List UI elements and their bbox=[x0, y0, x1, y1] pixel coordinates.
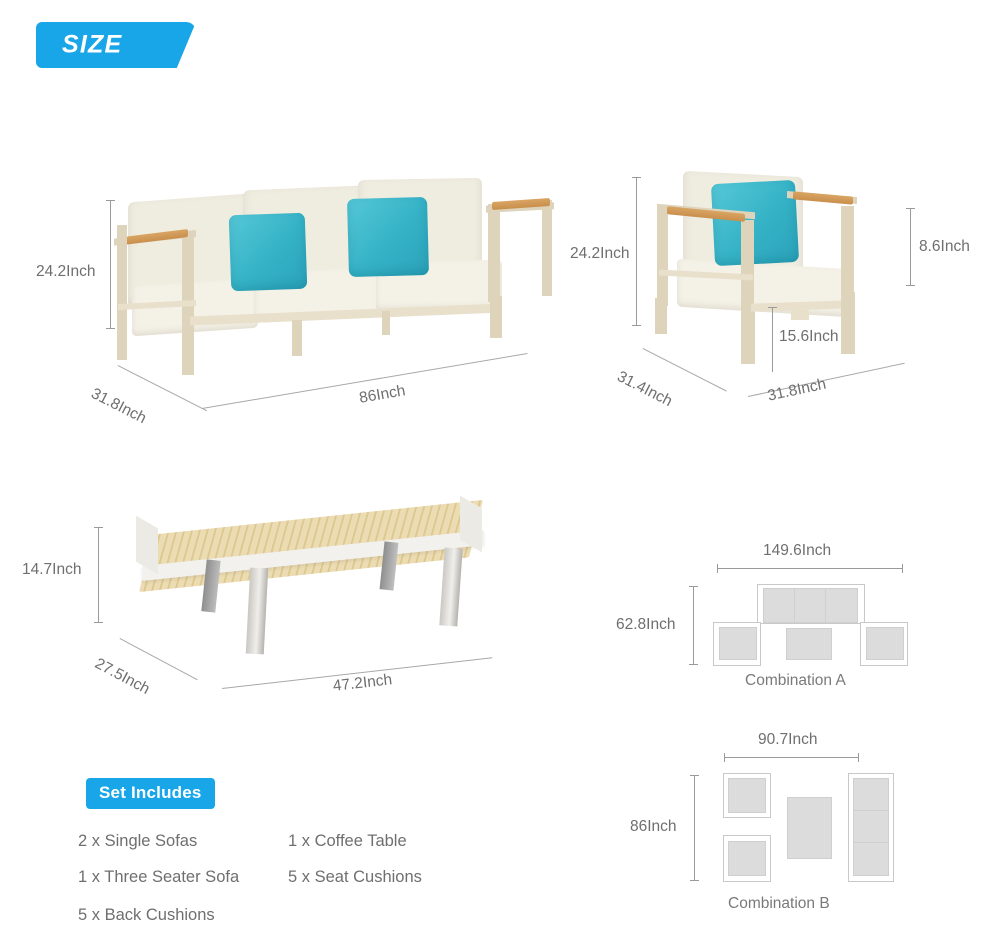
chair-throw-pillow bbox=[711, 180, 799, 266]
combination-b-depth-tick-top bbox=[690, 775, 699, 776]
three-seater-height-line bbox=[110, 200, 111, 328]
single-sofa-seat-height-label: 15.6Inch bbox=[779, 328, 838, 346]
set-includes-item-2: 1 x Three Seater Sofa bbox=[78, 868, 239, 887]
combination-b-plan-armchair-top-seat bbox=[728, 778, 766, 813]
single-sofa-figure bbox=[645, 168, 895, 368]
set-includes-item-1: 1 x Coffee Table bbox=[288, 832, 407, 851]
combination-b-block: 90.7Inch 86Inch Combination B bbox=[600, 725, 970, 925]
single-sofa-seat-tick-top bbox=[768, 307, 777, 308]
sofa-leg-mid-rear bbox=[382, 311, 390, 335]
combination-a-caption: Combination A bbox=[745, 672, 846, 690]
set-includes-item-4: 5 x Back Cushions bbox=[78, 906, 215, 925]
sofa-leg-back-left bbox=[117, 328, 127, 360]
chair-arm-post-front-right bbox=[841, 206, 854, 298]
sofa-arm-post-left bbox=[182, 236, 194, 342]
combination-a-depth-line bbox=[693, 586, 694, 664]
three-seater-sofa-figure bbox=[110, 170, 550, 410]
combination-b-plan-coffee-table bbox=[787, 797, 832, 859]
combination-a-depth-tick-bottom bbox=[689, 664, 698, 665]
combination-a-plan-armchair-right-seat bbox=[866, 627, 904, 660]
combination-a-plan-armchair-left-seat bbox=[719, 627, 757, 660]
coffee-table-figure bbox=[120, 512, 510, 672]
coffee-table-height-line bbox=[98, 527, 99, 622]
coffee-table-frame-left bbox=[136, 516, 158, 575]
sofa-arm-post-right bbox=[488, 204, 500, 302]
single-sofa-seat-height-line bbox=[772, 307, 773, 372]
chair-arm-post-front-left bbox=[741, 220, 754, 316]
single-sofa-depth-label: 31.4Inch bbox=[614, 368, 675, 411]
chair-leg-front-left bbox=[741, 308, 755, 364]
chair-leg-front-right bbox=[841, 292, 855, 354]
combination-b-depth-label: 86Inch bbox=[630, 818, 677, 836]
set-includes-badge: Set Includes bbox=[86, 778, 215, 809]
chair-center-bracket bbox=[791, 310, 809, 320]
combination-b-depth-tick-bottom bbox=[690, 880, 699, 881]
sofa-arm-post-outer-right bbox=[542, 200, 552, 296]
size-banner: SIZE bbox=[36, 22, 196, 68]
combination-a-block: 149.6Inch 62.8Inch Combination A bbox=[600, 530, 970, 690]
combination-b-plan-three-seater-seat1 bbox=[853, 778, 889, 812]
set-includes-badge-label: Set Includes bbox=[99, 783, 202, 802]
coffee-table-leg-front-left bbox=[246, 568, 268, 655]
combination-b-width-tick-left bbox=[724, 753, 725, 762]
combination-a-width-tick-left bbox=[717, 564, 718, 573]
combination-a-width-tick-right bbox=[902, 564, 903, 573]
set-includes-item-3: 5 x Seat Cushions bbox=[288, 868, 422, 887]
combination-a-depth-label: 62.8Inch bbox=[616, 616, 675, 634]
set-includes-item-0: 2 x Single Sofas bbox=[78, 832, 197, 851]
three-seater-height-tick-bottom bbox=[106, 328, 115, 329]
sofa-arm-post-outer-left bbox=[117, 225, 127, 333]
sofa-throw-pillow-right bbox=[347, 197, 429, 277]
single-sofa-height-tick-top bbox=[632, 177, 641, 178]
single-sofa-arm-tick-top bbox=[906, 208, 915, 209]
size-banner-label: SIZE bbox=[62, 31, 122, 60]
chair-arm-post-back-left bbox=[657, 206, 668, 306]
combination-b-plan-armchair-bottom-seat bbox=[728, 841, 766, 876]
single-sofa-height-line bbox=[636, 177, 637, 325]
coffee-table-height-tick-bottom bbox=[94, 622, 103, 623]
single-sofa-height-tick-bottom bbox=[632, 325, 641, 326]
combination-a-plan-three-seater-seat2 bbox=[794, 588, 827, 623]
three-seater-height-label: 24.2Inch bbox=[36, 263, 95, 281]
coffee-table-height-label: 14.7Inch bbox=[22, 561, 81, 579]
combination-a-depth-tick-top bbox=[689, 586, 698, 587]
chair-leg-back-left bbox=[655, 298, 667, 334]
single-sofa-arm-height-line bbox=[910, 208, 911, 285]
single-sofa-arm-height-label: 8.6Inch bbox=[919, 238, 970, 256]
combination-b-width-tick-right bbox=[858, 753, 859, 762]
combination-a-width-label: 149.6Inch bbox=[763, 542, 831, 560]
three-seater-height-tick-top bbox=[106, 200, 115, 201]
single-sofa-width-label: 31.8Inch bbox=[766, 376, 828, 406]
single-sofa-height-label: 24.2Inch bbox=[570, 245, 629, 263]
sofa-leg-front-left bbox=[182, 335, 194, 375]
combination-b-width-label: 90.7Inch bbox=[758, 731, 817, 749]
sofa-leg-mid bbox=[292, 320, 302, 356]
coffee-table-height-tick-top bbox=[94, 527, 103, 528]
sofa-throw-pillow-left bbox=[229, 213, 308, 292]
combination-b-depth-line bbox=[694, 775, 695, 880]
combination-a-plan-three-seater-seat1 bbox=[763, 588, 796, 623]
combination-b-plan-three-seater-seat3 bbox=[853, 842, 889, 876]
sofa-leg-front-right bbox=[490, 296, 502, 338]
combination-b-plan-three-seater-seat2 bbox=[853, 810, 889, 844]
combination-b-caption: Combination B bbox=[728, 895, 830, 913]
combination-a-plan-coffee-table bbox=[786, 628, 832, 660]
combination-a-width-line bbox=[717, 568, 903, 569]
combination-a-plan-three-seater-seat3 bbox=[825, 588, 858, 623]
combination-b-width-line bbox=[724, 757, 859, 758]
single-sofa-arm-tick-bottom bbox=[906, 285, 915, 286]
